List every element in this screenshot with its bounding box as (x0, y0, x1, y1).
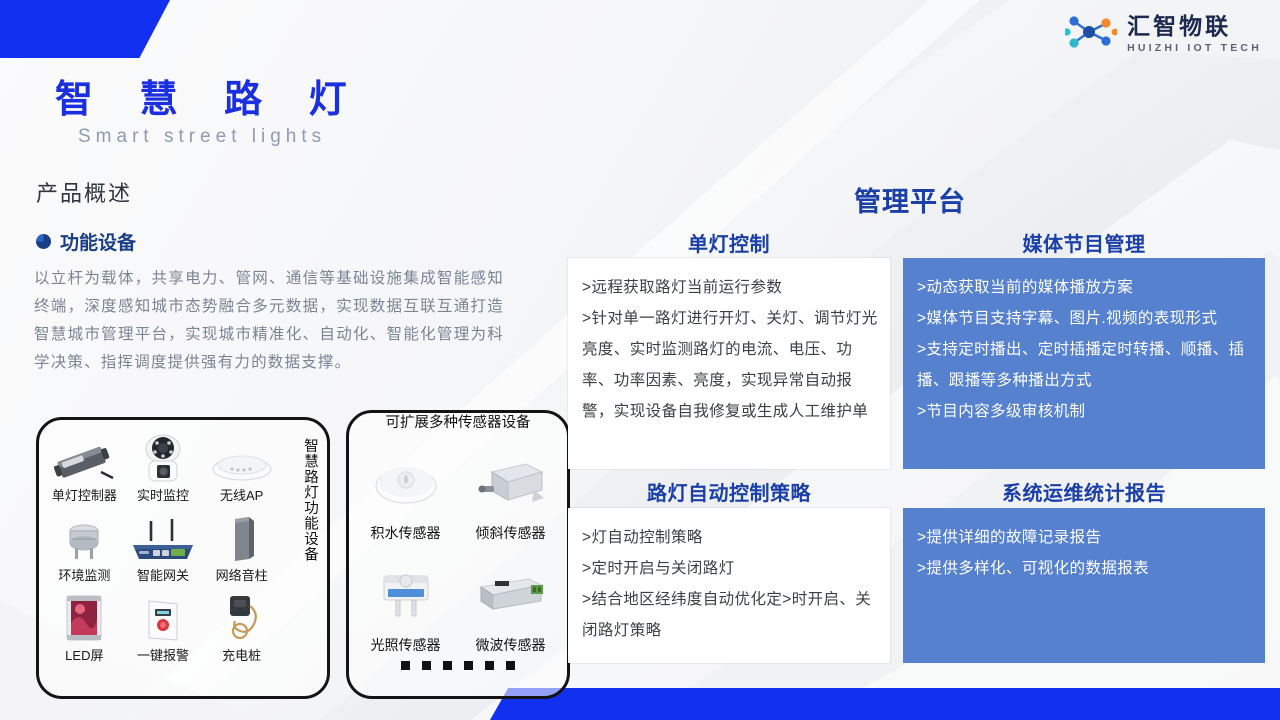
device-item: 环境监测 (45, 506, 124, 584)
molecule-icon (1065, 12, 1117, 57)
sensor-grid: 积水传感器 倾斜传感器 (353, 435, 563, 655)
led-screen-icon (62, 593, 106, 643)
panel-line: >远程获取路灯当前运行参数 (582, 272, 878, 303)
platform-title: 管理平台 (780, 180, 1040, 219)
panel-single-lamp-control: >远程获取路灯当前运行参数 >针对单一路灯进行开灯、关灯、调节灯光亮度、实时监测… (568, 258, 890, 469)
device-label: 实时监控 (137, 485, 189, 504)
ptz-camera-icon (136, 433, 190, 483)
brand-logo: 汇智物联 HUIZHI IOT TECH (1065, 12, 1262, 57)
device-label: LED屏 (65, 645, 103, 664)
logo-title-cn: 汇智物联 (1127, 15, 1262, 38)
device-label: 充电桩 (222, 645, 261, 664)
dot (422, 661, 431, 670)
sensor-item: 积水传感器 (353, 435, 458, 543)
panel-auto-control-strategy: >灯自动控制策略 >定时开启与关闭路灯 >结合地区经纬度自动优化定>时开启、关闭… (568, 508, 890, 663)
device-item: 实时监控 (124, 426, 203, 504)
device-label: 智能网关 (137, 565, 189, 584)
logo-title-en: HUIZHI IOT TECH (1127, 43, 1262, 54)
light-sensor-icon (370, 560, 442, 632)
device-item: 单灯控制器 (45, 426, 124, 504)
dot (443, 661, 452, 670)
dot (464, 661, 473, 670)
microwave-sensor-icon (473, 560, 549, 632)
device-label: 环境监测 (58, 565, 110, 584)
panel-line: >针对单一路灯进行开灯、关灯、调节灯光亮度、实时监测路灯的电流、电压、功率、功率… (582, 303, 878, 427)
network-speaker-icon (227, 513, 257, 563)
functional-devices-card: 单灯控制器 实时监控 (36, 417, 330, 699)
sensor-more-dots (349, 661, 567, 670)
panel-line: >媒体节目支持字幕、图片.视频的表现形式 (917, 303, 1253, 334)
page-subtitle-en: Smart street lights (78, 126, 326, 148)
sensor-item: 光照传感器 (353, 547, 458, 655)
panel-line: >结合地区经纬度自动优化定>时开启、关闭路灯策略 (582, 584, 878, 646)
dot (401, 661, 410, 670)
pie-chart-icon (36, 234, 51, 249)
panel-line: >提供多样化、可视化的数据报表 (917, 553, 1253, 584)
emergency-button-icon (142, 593, 184, 643)
device-item: 一键报警 (124, 586, 203, 664)
subsection-title-functional-devices: 功能设备 (36, 228, 136, 255)
smart-gateway-icon (127, 513, 199, 563)
section-title-overview: 产品概述 (36, 176, 132, 208)
subsection-label: 功能设备 (60, 228, 136, 255)
charging-pile-icon (221, 593, 263, 643)
environment-sensor-icon (59, 513, 109, 563)
panel-line: >定时开启与关闭路灯 (582, 553, 878, 584)
overview-paragraph: 以立杆为载体，共享电力、管网、通信等基础设施集成智能感知终端，深度感知城市态势融… (34, 265, 504, 377)
sensor-label: 光照传感器 (371, 635, 441, 655)
expandable-sensors-card: 可扩展多种传感器设备 积水传感器 (346, 410, 570, 699)
panel-heading-single-lamp-control: 单灯控制 (568, 228, 890, 257)
tilt-sensor-icon (474, 448, 548, 520)
panel-line: >动态获取当前的媒体播放方案 (917, 272, 1253, 303)
panel-heading-media-program-management: 媒体节目管理 (903, 228, 1265, 257)
sensor-item: 微波传感器 (458, 547, 563, 655)
device-item: 网络音柱 (202, 506, 281, 584)
dot (485, 661, 494, 670)
panel-media-program-management: >动态获取当前的媒体播放方案 >媒体节目支持字幕、图片.视频的表现形式 >支持定… (903, 258, 1265, 469)
dot (506, 661, 515, 670)
sensor-label: 倾斜传感器 (476, 523, 546, 543)
device-label: 网络音柱 (216, 565, 268, 584)
wireless-ap-icon (210, 433, 274, 483)
panel-heading-auto-control-strategy: 路灯自动控制策略 (568, 477, 890, 506)
device-item: LED屏 (45, 586, 124, 664)
power-supply-icon (51, 433, 117, 483)
water-level-sensor-icon (372, 448, 440, 520)
panel-line: >灯自动控制策略 (582, 522, 878, 553)
panel-ops-statistics-report: >提供详细的故障记录报告 >提供多样化、可视化的数据报表 (903, 508, 1265, 663)
panel-heading-ops-statistics-report: 系统运维统计报告 (903, 477, 1265, 506)
panel-line: >提供详细的故障记录报告 (917, 522, 1253, 553)
sensor-item: 倾斜传感器 (458, 435, 563, 543)
sensor-label: 微波传感器 (476, 635, 546, 655)
device-label: 一键报警 (137, 645, 189, 664)
panel-line: >节目内容多级审核机制 (917, 396, 1253, 427)
bottom-right-accent-bar (490, 688, 1280, 720)
device-label: 无线AP (220, 485, 263, 504)
panel-line: >支持定时播出、定时插播定时转播、顺播、插播、跟播等多种播出方式 (917, 334, 1253, 396)
page-title: 智 慧 路 灯 (55, 68, 365, 123)
device-grid: 单灯控制器 实时监控 (45, 426, 281, 664)
device-card-vertical-label: 智慧路灯功能设备 (296, 438, 318, 678)
sensor-label: 积水传感器 (371, 523, 441, 543)
device-item: 无线AP (202, 426, 281, 504)
sensor-card-title: 可扩展多种传感器设备 (349, 411, 567, 432)
device-item: 智能网关 (124, 506, 203, 584)
device-item: 充电桩 (202, 586, 281, 664)
device-label: 单灯控制器 (52, 485, 117, 504)
